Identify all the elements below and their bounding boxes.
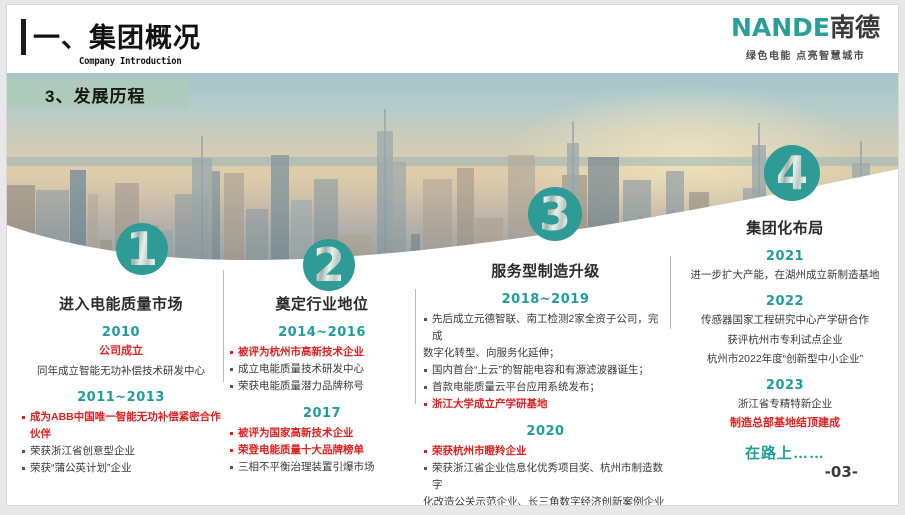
- year-label: 2018~2019: [423, 292, 668, 307]
- milestone-number: 4: [776, 150, 808, 196]
- year-label: 2017: [229, 406, 415, 421]
- year-label: 2020: [423, 424, 668, 439]
- list-item: 三相不平衡治理装置引爆市场: [229, 459, 415, 476]
- list-item: 被评为杭州市高新技术企业: [229, 344, 415, 361]
- logo-tagline: 绿色电能 点亮智慧城市: [731, 47, 880, 62]
- detail-line: 杭州市2022年度“创新型中小企业”: [679, 351, 891, 367]
- year-label: 2022: [679, 294, 891, 309]
- column-heading: 集团化布局: [679, 217, 891, 238]
- timeline-column-4: 集团化布局2021进一步扩大产能，在湖州成立新制造基地2022传感器国家工程研究…: [679, 217, 891, 463]
- page-subtitle: Company Introduction: [79, 56, 181, 67]
- brand-logo: NANDE南德 绿色电能 点亮智慧城市: [731, 15, 880, 62]
- achievement-list: 被评为杭州市高新技术企业成立电能质量技术研发中心荣获电能质量潜力品牌称号: [229, 344, 415, 395]
- list-item: 首款电能质量云平台应用系统发布；: [423, 379, 668, 396]
- list-item: 化改造公关示范企业、长三角数字经济创新案例企业: [423, 494, 668, 505]
- year-label: 2010: [21, 325, 221, 340]
- column-heading: 服务型制造升级: [423, 260, 668, 281]
- milestone-circle-2: 2: [303, 239, 355, 291]
- logo-latin: NANDE: [731, 13, 830, 42]
- milestone-number: 1: [126, 226, 158, 272]
- detail-line: 浙江省专精特新企业: [679, 396, 891, 412]
- achievement-list: 成为ABB中国唯一智能无功补偿紧密合作伙伴荣获浙江省创意型企业荣获“蒲公英计划”…: [21, 409, 221, 477]
- milestone-number: 2: [313, 242, 345, 288]
- milestone-circle-3: 3: [528, 187, 582, 241]
- list-item: 数字化转型、向服务化延伸；: [423, 345, 668, 362]
- logo-wordmark: NANDE南德: [731, 15, 880, 40]
- list-item: 荣获电能质量潜力品牌称号: [229, 378, 415, 395]
- list-item: 荣登电能质量十大品牌榜单: [229, 442, 415, 459]
- achievement-list: 先后成立元德智联、南工检测2家全资子公司，完成数字化转型、向服务化延伸；国内首台…: [423, 311, 668, 413]
- list-item: 荣获浙江省创意型企业: [21, 443, 221, 460]
- logo-cn: 南德: [830, 13, 880, 42]
- detail-line: 同年成立智能无功补偿技术研发中心: [21, 363, 221, 379]
- year-label: 2021: [679, 249, 891, 264]
- list-item: 成为ABB中国唯一智能无功补偿紧密合作伙伴: [21, 409, 221, 443]
- achievement-list: 荣获杭州市瞪羚企业荣获浙江省企业信息化优秀项目奖、杭州市制造数字化改造公关示范企…: [423, 443, 668, 505]
- detail-line: 获评杭州市专利试点企业: [679, 332, 891, 348]
- divider-2: [415, 289, 416, 404]
- detail-line: 传感器国家工程研究中心产学研合作: [679, 312, 891, 328]
- year-label: 2023: [679, 378, 891, 393]
- slide: 一、集团概况 Company Introduction NANDE南德 绿色电能…: [7, 5, 898, 505]
- list-item: 先后成立元德智联、南工检测2家全资子公司，完成: [423, 311, 668, 345]
- divider-1: [223, 270, 224, 382]
- milestone-number: 3: [539, 191, 571, 237]
- section-tag: 3、发展历程: [7, 77, 188, 108]
- title-accent-rule: [21, 19, 26, 55]
- header-bar: 一、集团概况 Company Introduction NANDE南德 绿色电能…: [7, 5, 898, 73]
- list-item: 国内首台“上云”的智能电容和有源滤波器诞生；: [423, 362, 668, 379]
- column-footer: 在路上……: [679, 442, 891, 463]
- timeline-column-2: 奠定行业地位2014~2016被评为杭州市高新技术企业成立电能质量技术研发中心荣…: [229, 293, 415, 476]
- list-item: 浙江大学成立产学研基地: [423, 396, 668, 413]
- timeline-column-1: 进入电能质量市场2010公司成立同年成立智能无功补偿技术研发中心2011~201…: [21, 293, 221, 477]
- column-heading: 奠定行业地位: [229, 293, 415, 314]
- column-heading: 进入电能质量市场: [21, 293, 221, 314]
- achievement-list: 被评为国家高新技术企业荣登电能质量十大品牌榜单三相不平衡治理装置引爆市场: [229, 425, 415, 476]
- page-number: -03-: [825, 463, 858, 481]
- list-item: 荣获浙江省企业信息化优秀项目奖、杭州市制造数字: [423, 460, 668, 494]
- timeline-column-3: 服务型制造升级2018~2019先后成立元德智联、南工检测2家全资子公司，完成数…: [423, 260, 668, 505]
- year-label: 2014~2016: [229, 325, 415, 340]
- section-tag-label: 3、发展历程: [45, 82, 145, 107]
- list-item: 成立电能质量技术研发中心: [229, 361, 415, 378]
- detail-line: 公司成立: [21, 343, 221, 360]
- list-item: 荣获杭州市瞪羚企业: [423, 443, 668, 460]
- detail-line: 制造总部基地结顶建成: [679, 415, 891, 432]
- list-item: 被评为国家高新技术企业: [229, 425, 415, 442]
- detail-line: 进一步扩大产能，在湖州成立新制造基地: [679, 267, 891, 283]
- divider-3: [670, 256, 671, 329]
- list-item: 荣获“蒲公英计划”企业: [21, 460, 221, 477]
- year-label: 2011~2013: [21, 390, 221, 405]
- milestone-circle-1: 1: [116, 223, 168, 275]
- page-title: 一、集团概况: [33, 16, 201, 55]
- milestone-circle-4: 4: [764, 145, 820, 201]
